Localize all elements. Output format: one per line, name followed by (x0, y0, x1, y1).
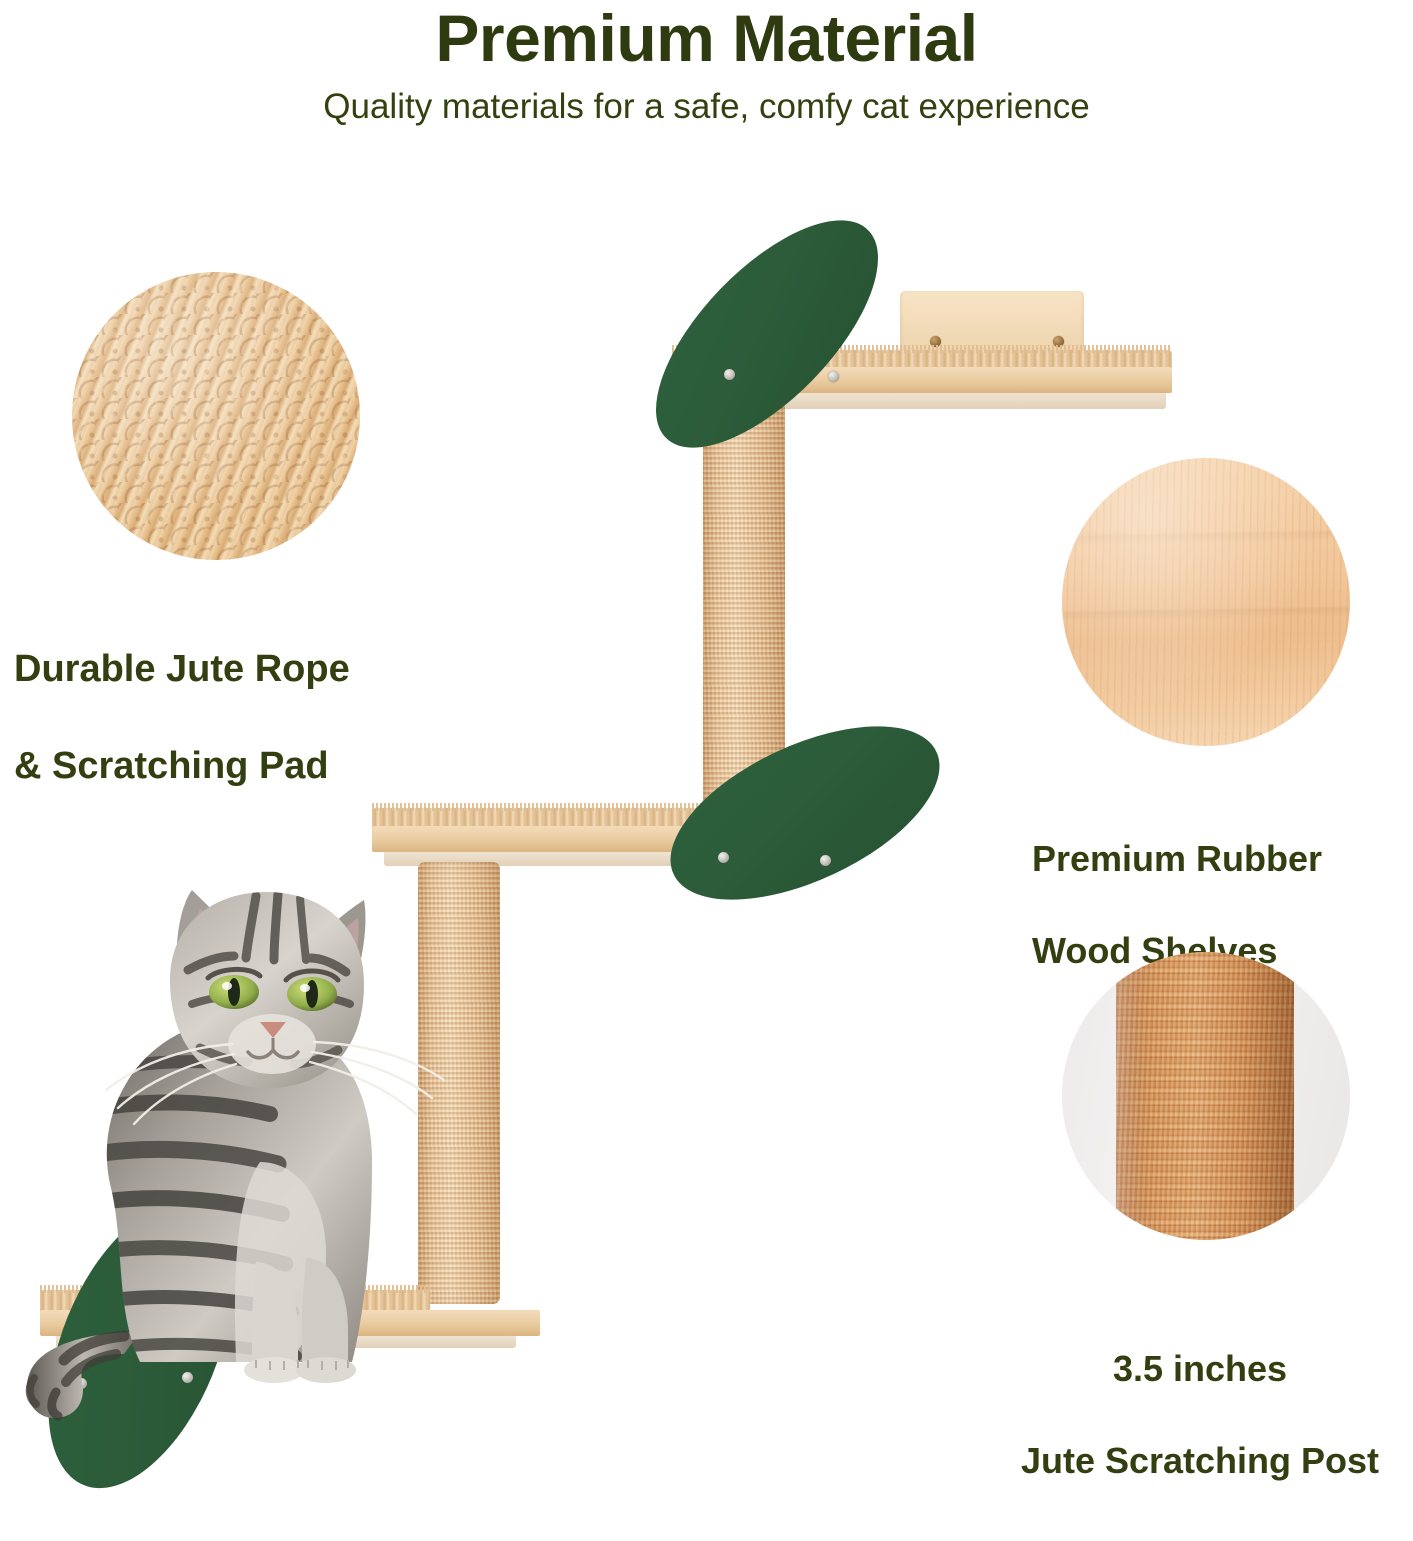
cat-tail (27, 1332, 140, 1418)
silver-tabby-cat (20, 862, 450, 1422)
middle-shelf-board (372, 826, 720, 852)
upper-leaf-screw-right (828, 371, 839, 382)
middle-leaf-screw-left (718, 852, 729, 863)
infographic-canvas: Premium Material Quality materials for a… (0, 0, 1413, 1500)
cat-tree-product (0, 0, 1413, 1500)
middle-shelf-jute-pad (372, 808, 720, 826)
cat-muzzle (228, 1014, 316, 1074)
upper-leaf-screw-left (724, 369, 735, 380)
middle-shelf (372, 808, 720, 866)
middle-leaf-screw-right (820, 855, 831, 866)
